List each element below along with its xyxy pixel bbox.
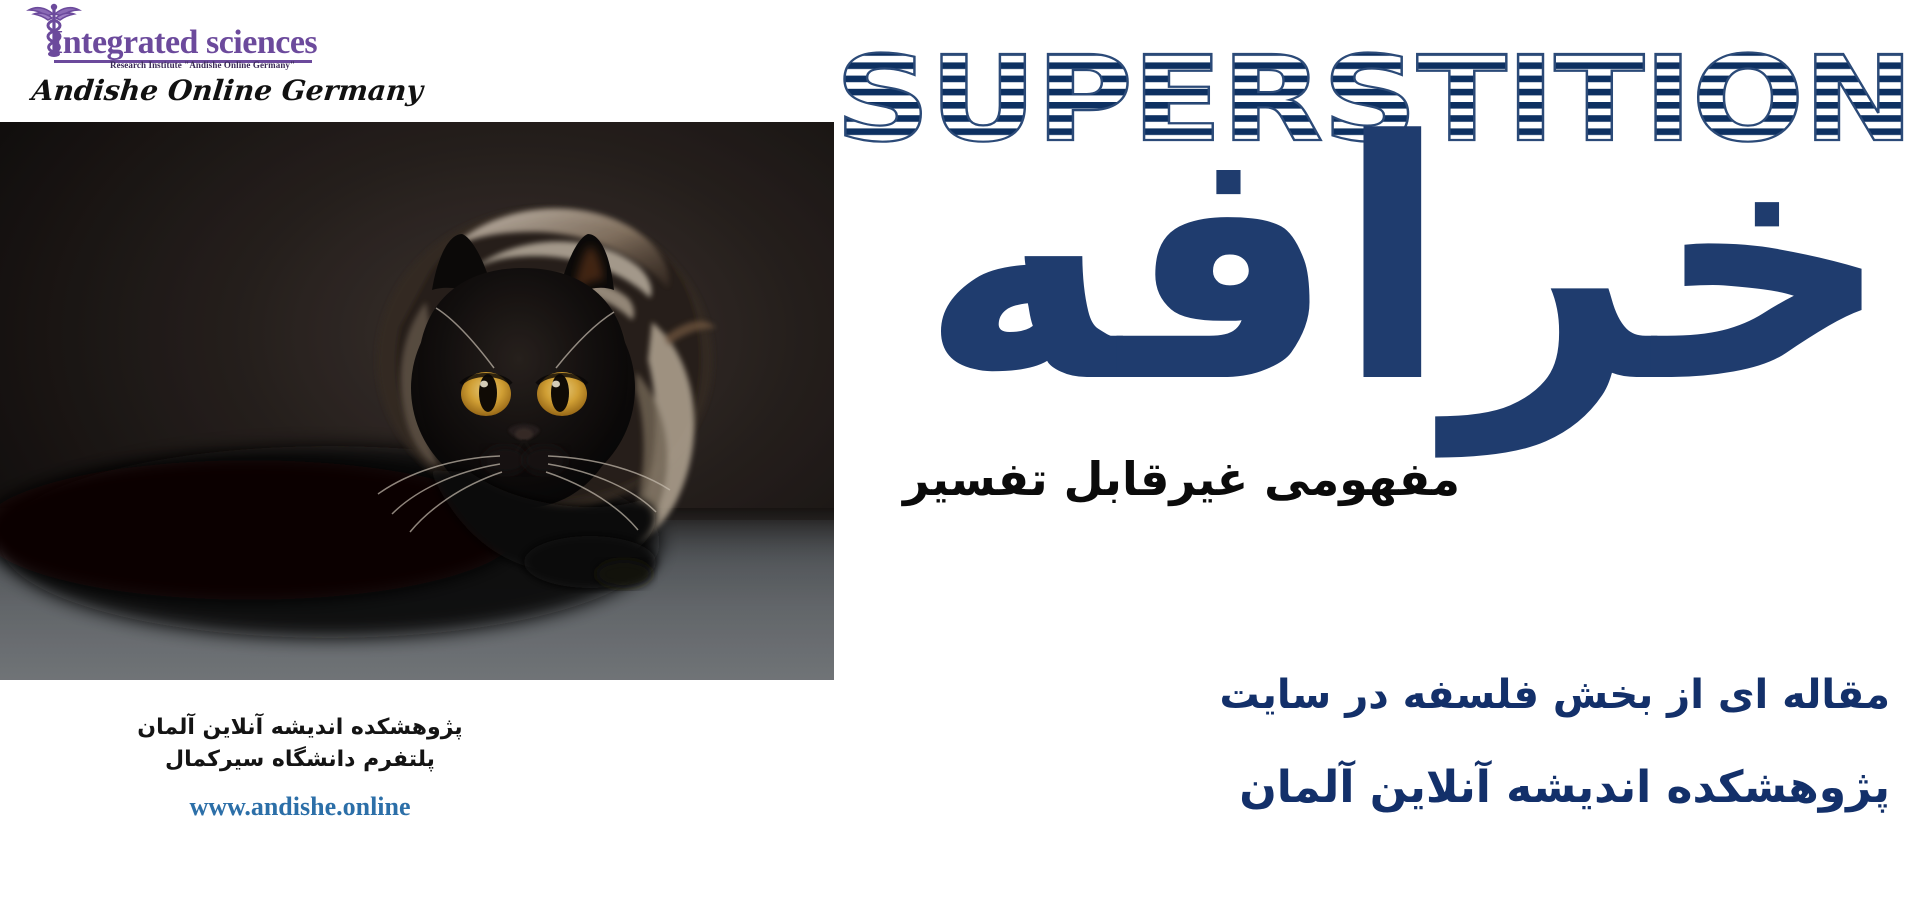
cta-line-institute-name: پژوهشکده اندیشه آنلاین آلمان <box>910 762 1890 813</box>
logo-title: Integrated sciences <box>50 24 317 62</box>
persian-subtitle: مفهومی غیرقابل تفسیر <box>860 452 1460 506</box>
call-to-action-block: مقاله ای از بخش فلسفه در سایت پژوهشکده ا… <box>910 672 1890 813</box>
website-url[interactable]: www.andishe.online <box>0 792 600 822</box>
credit-institute: پژوهشکده اندیشه آنلاین آلمان <box>0 712 600 744</box>
persian-title: خرافه <box>832 110 1892 417</box>
credit-platform: پلتفرم دانشگاه سیرکمال <box>0 744 600 776</box>
institute-logo: Integrated sciences Research Institute "… <box>18 2 338 117</box>
cta-line-article-source: مقاله ای از بخش فلسفه در سایت <box>910 672 1890 718</box>
logo-subtitle: Research Institute "Andishe Online Germa… <box>110 60 295 70</box>
logo-script-name: Andishe Online Germany <box>30 74 424 107</box>
credits-block: پژوهشکده اندیشه آنلاین آلمان پلتفرم دانش… <box>0 712 600 822</box>
black-cat-photo <box>0 122 834 680</box>
